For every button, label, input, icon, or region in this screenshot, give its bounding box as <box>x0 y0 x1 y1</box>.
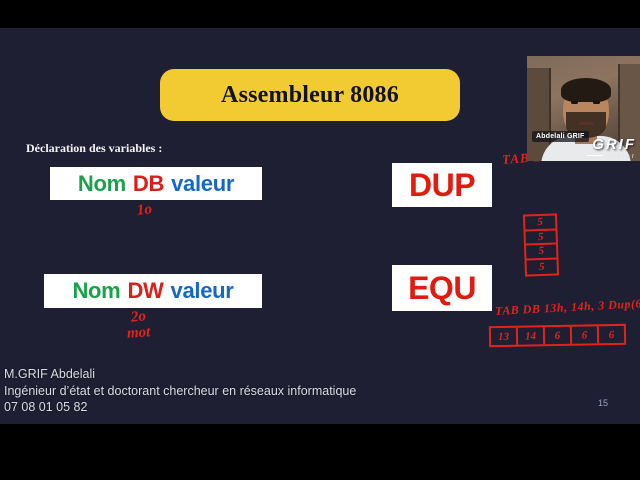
keyword-box-dup: DUP <box>392 163 492 207</box>
keyword-box-equ: EQU <box>392 265 492 311</box>
presenter-info: M.GRIF Abdelali Ingénieur d’état et doct… <box>4 366 356 416</box>
logo-sub-wrap: center <box>587 154 636 161</box>
annotation-dw-unit: mot <box>126 324 150 343</box>
syntax-db-value: valeur <box>171 171 234 197</box>
keyword-label-dup: DUP <box>409 167 475 204</box>
grif-center-logo: GRIF center <box>587 137 636 161</box>
memory-cell: 5 <box>526 230 556 246</box>
syntax-db-name: Nom <box>78 171 126 197</box>
keyword-label-equ: EQU <box>408 270 476 307</box>
annotation-db-size: 1o <box>136 201 153 219</box>
webcam-participant-name: Abdelali GRIF <box>532 131 589 142</box>
letterbox-top-bar <box>0 0 640 28</box>
syntax-dw-name: Nom <box>72 278 120 304</box>
syntax-dw-directive: DW <box>127 278 163 304</box>
webcam-person-eye-left <box>571 101 578 104</box>
syntax-box-db: Nom DB valeur <box>50 167 262 200</box>
memory-cell: 14 <box>518 327 545 344</box>
annotation-equ-example: TAB DB 13h, 14h, 3 Dup(6) <box>495 296 640 319</box>
syntax-dw-value: valeur <box>171 278 234 304</box>
logo-sub-text: center <box>606 153 636 160</box>
memory-cell: 6 <box>572 326 599 343</box>
webcam-person-hair <box>561 78 611 102</box>
annotation-equ-memory-table: 13 14 6 6 6 <box>489 324 626 347</box>
slide-number: 15 <box>598 398 608 408</box>
page-title: Assembleur 8086 <box>221 82 399 109</box>
section-heading: Déclaration des variables : <box>26 141 162 156</box>
syntax-db-directive: DB <box>133 171 164 197</box>
memory-cell: 5 <box>527 259 557 275</box>
presenter-name: M.GRIF Abdelali <box>4 366 356 383</box>
syntax-box-dw: Nom DW valeur <box>44 274 262 308</box>
video-player-screen: Assembleur 8086 Déclaration des variable… <box>0 0 640 480</box>
webcam-person-eye-right <box>593 101 600 104</box>
memory-cell: 6 <box>545 327 572 344</box>
presenter-role: Ingénieur d’état et doctorant chercheur … <box>4 383 356 400</box>
slide-title-pill: Assembleur 8086 <box>160 69 460 121</box>
memory-cell: 6 <box>599 326 624 343</box>
presenter-phone: 07 08 01 05 82 <box>4 399 356 416</box>
letterbox-bottom-bar <box>0 424 640 480</box>
webcam-person-mouth <box>579 122 594 125</box>
memory-cell: 5 <box>525 215 555 231</box>
annotation-dup-memory-table: 5 5 5 5 <box>523 213 559 276</box>
logo-rule-icon <box>587 155 603 157</box>
memory-cell: 13 <box>491 328 518 345</box>
webcam-thumbnail[interactable]: Abdelali GRIF GRIF center <box>527 56 640 161</box>
logo-main-text: GRIF <box>592 136 636 153</box>
memory-cell: 5 <box>526 244 556 260</box>
presentation-slide: Assembleur 8086 Déclaration des variable… <box>0 28 640 424</box>
